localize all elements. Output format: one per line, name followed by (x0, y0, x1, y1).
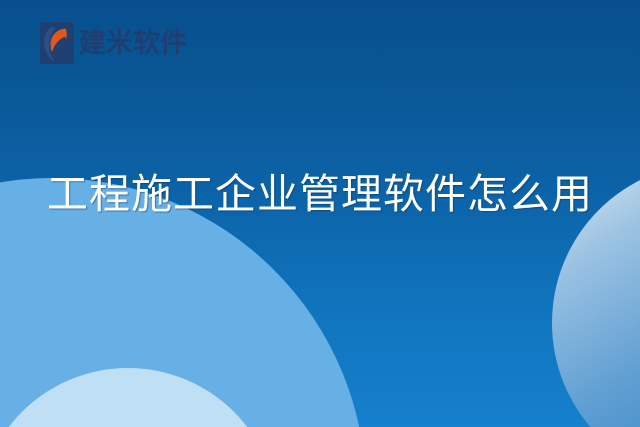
brand-name: 建米软件 (79, 30, 187, 57)
promo-banner: 建米软件 工程施工企业管理软件怎么用 (0, 0, 640, 427)
jianmi-leaf-logo-icon (40, 22, 74, 64)
brand-logo[interactable]: 建米软件 (40, 22, 187, 64)
page-title: 工程施工企业管理软件怎么用 (0, 170, 640, 218)
